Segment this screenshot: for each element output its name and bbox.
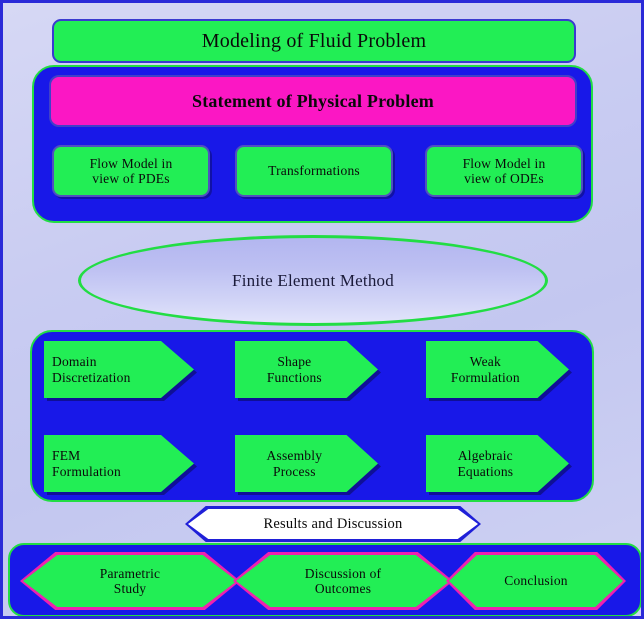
discussion-of-outcomes-label: Discussion of Outcomes <box>305 566 381 596</box>
discussion-of-outcomes-fill: Discussion of Outcomes <box>236 555 450 607</box>
fem-formulation-label: FEM Formulation <box>44 448 194 478</box>
shape-functions-label: Shape Functions <box>267 354 346 384</box>
results-and-discussion-hexagon[interactable]: Results and Discussion <box>185 506 481 542</box>
results-and-discussion-label: Results and Discussion <box>264 516 403 532</box>
flowchart-canvas: Modeling of Fluid Problem Statement of P… <box>0 0 644 619</box>
transformations-box[interactable]: Transformations <box>235 145 393 197</box>
algebraic-equations-label: Algebraic Equations <box>457 448 537 478</box>
assembly-process-label: Assembly Process <box>267 448 347 478</box>
flow-model-ode-label: Flow Model in view of ODEs <box>463 156 546 186</box>
statement-of-physical-problem-label: Statement of Physical Problem <box>192 91 434 111</box>
discussion-of-outcomes-hexagon[interactable]: Discussion of Outcomes <box>233 552 453 610</box>
parametric-study-label: Parametric Study <box>100 566 160 596</box>
parametric-study-fill: Parametric Study <box>23 555 237 607</box>
flow-model-ode-box[interactable]: Flow Model in view of ODEs <box>425 145 583 197</box>
parametric-study-hexagon[interactable]: Parametric Study <box>20 552 240 610</box>
flow-model-pde-box[interactable]: Flow Model in view of PDEs <box>52 145 210 197</box>
transformations-label: Transformations <box>268 163 360 178</box>
conclusion-hexagon[interactable]: Conclusion <box>446 552 626 610</box>
conclusion-fill: Conclusion <box>449 555 623 607</box>
modeling-of-fluid-problem-box[interactable]: Modeling of Fluid Problem <box>52 19 576 63</box>
results-and-discussion-fill: Results and Discussion <box>188 509 478 539</box>
weak-formulation-label: Weak Formulation <box>451 354 544 384</box>
domain-discretization-label: Domain Discretization <box>44 354 194 384</box>
finite-element-method-ellipse[interactable]: Finite Element Method <box>78 235 548 326</box>
modeling-of-fluid-problem-label: Modeling of Fluid Problem <box>202 30 426 52</box>
finite-element-method-label: Finite Element Method <box>232 271 394 290</box>
flow-model-pde-label: Flow Model in view of PDEs <box>90 156 173 186</box>
statement-of-physical-problem-box[interactable]: Statement of Physical Problem <box>49 75 577 127</box>
conclusion-label: Conclusion <box>504 573 568 588</box>
